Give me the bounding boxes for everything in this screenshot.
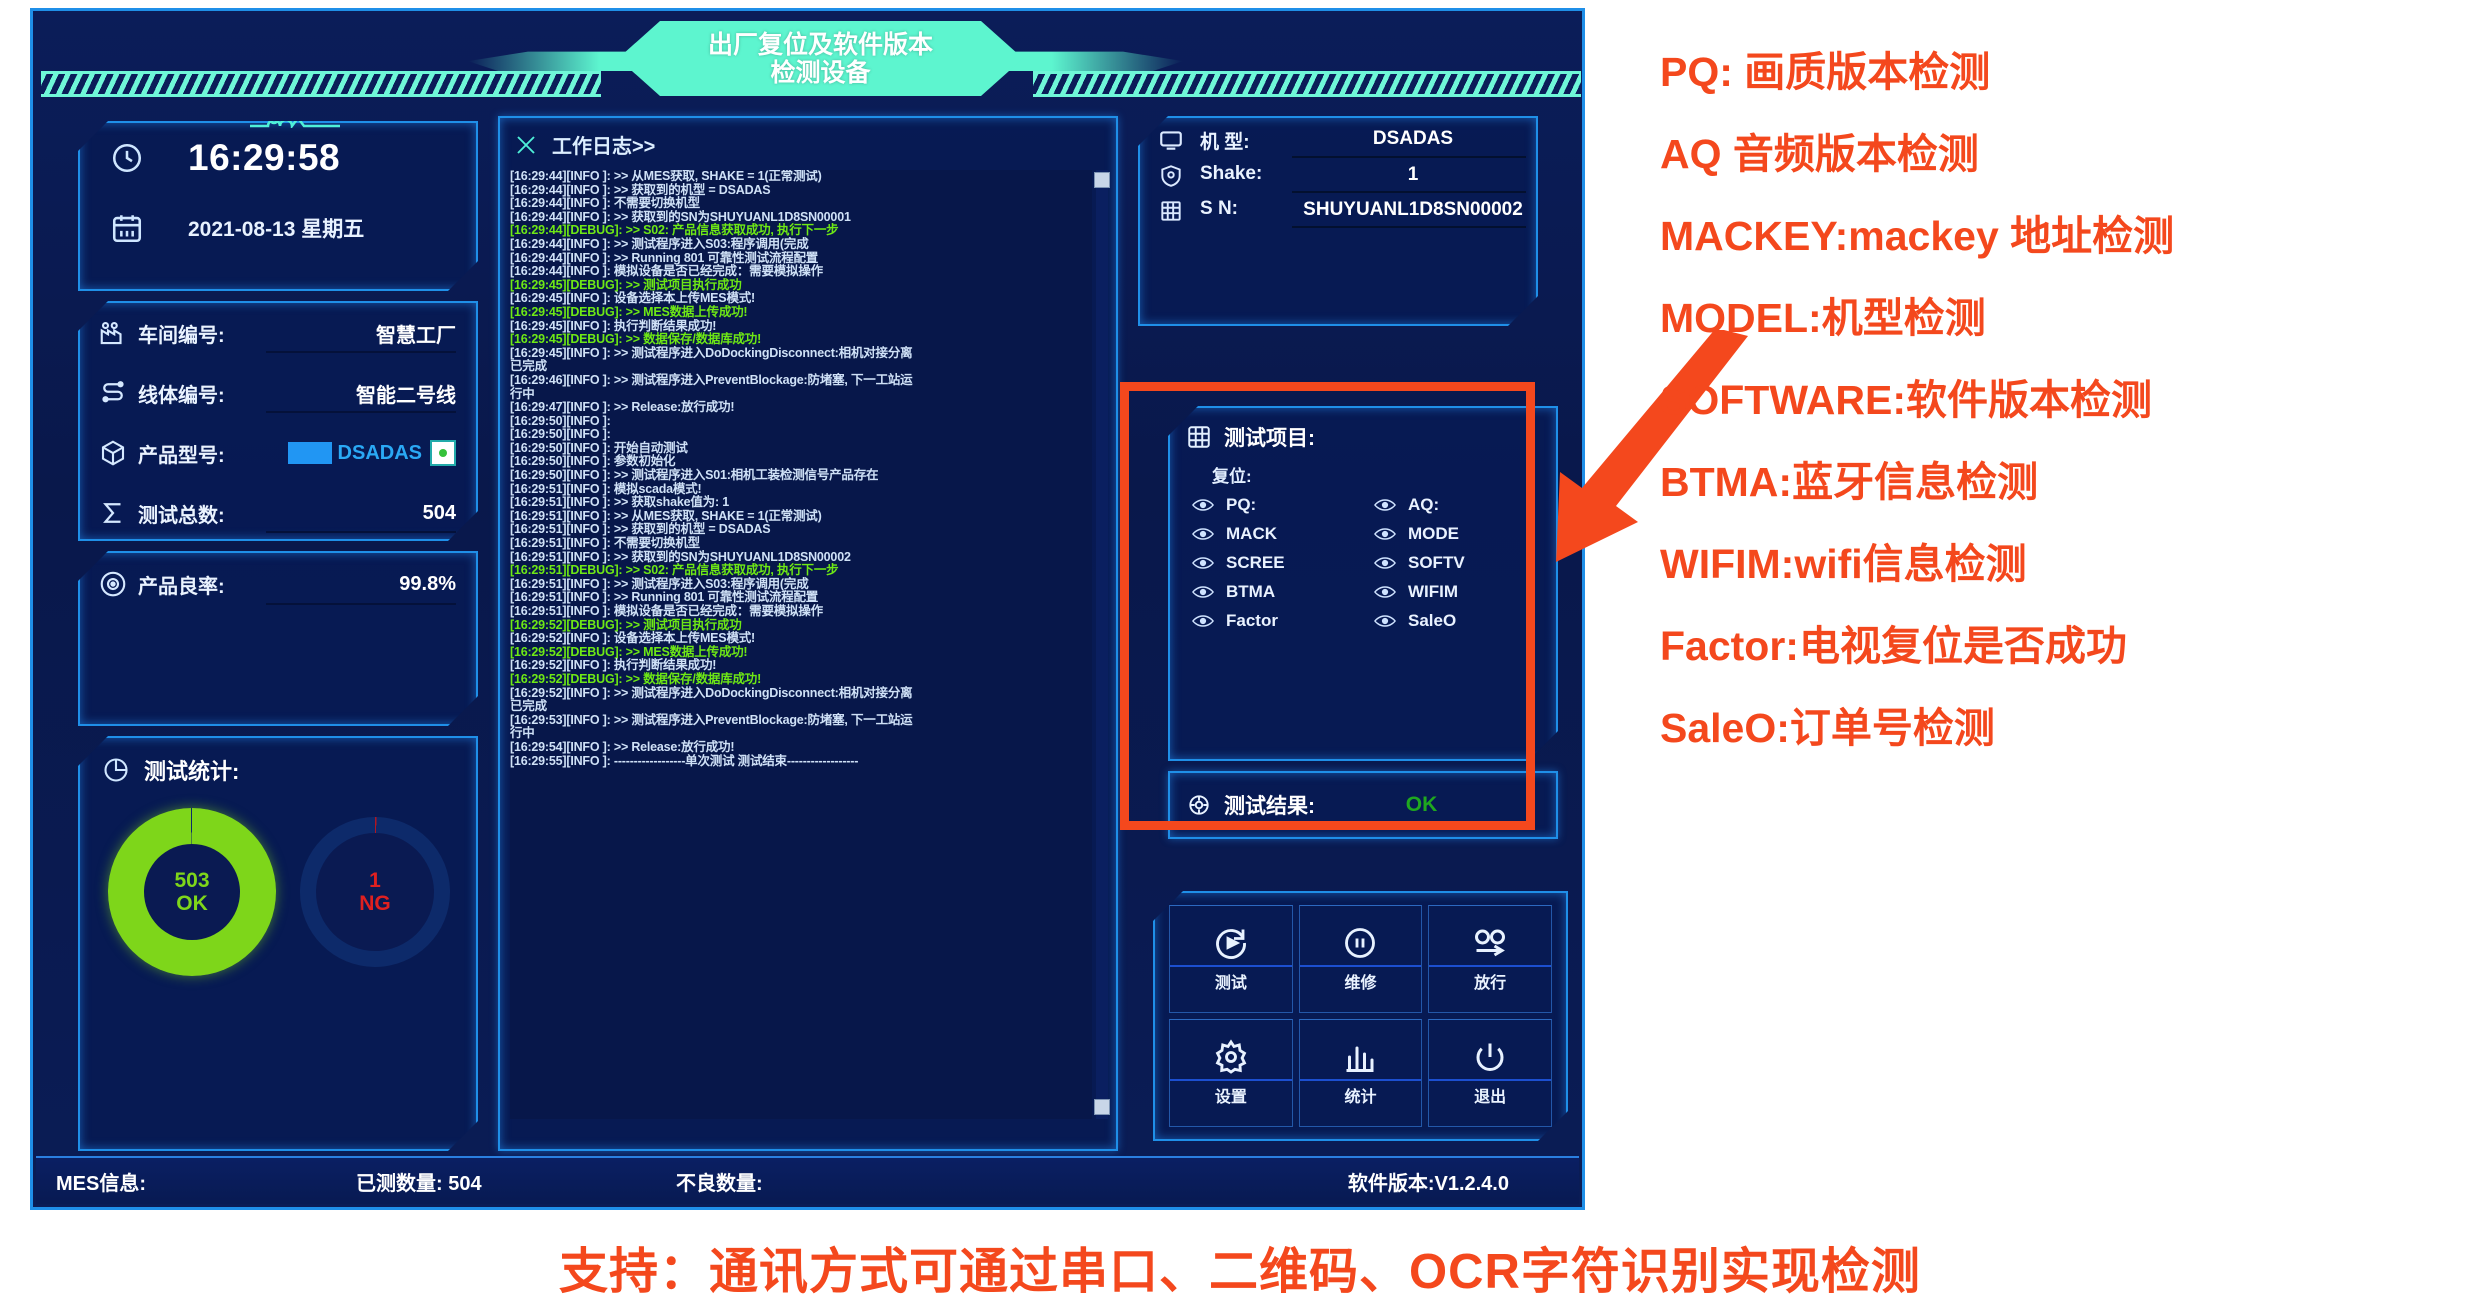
model-combobox[interactable]: DSADAS [225, 423, 460, 483]
log-line: [16:29:51][INFO ]: 不需要切换机型 [510, 537, 1092, 551]
play-circle-icon [1213, 925, 1249, 961]
clock-panel: 16:29:58 2021-08-13 星期五 [78, 121, 478, 291]
log-line: [16:29:52][INFO ]: 执行判断结果成功! [510, 659, 1092, 673]
clock-time: 16:29:58 [188, 137, 340, 179]
bottom-caption: 支持：通讯方式可通过串口、二维码、OCR字符识别实现检测 [0, 1232, 2480, 1303]
annotation-note: MACKEY:mackey 地址检测 [1660, 216, 2450, 257]
device-row-shake: Shake: 1 [1140, 154, 1536, 189]
log-line: [16:29:45][INFO ]: 设备选择本上传MES模式! [510, 292, 1092, 306]
info-row-workshop: 车间编号: 智慧工厂 [80, 303, 476, 363]
device-value-model: DSADAS [1300, 127, 1526, 151]
highlight-rectangle [1120, 382, 1535, 830]
info-value-workshop: 智慧工厂 [376, 319, 456, 348]
ng-label: NG [359, 892, 391, 915]
work-log-panel: 工作日志>> [16:29:44][INFO ]: >> 从MES获取, SHA… [498, 116, 1118, 1151]
device-info-panel: 机 型: DSADAS Shake: 1 S N: SHUY [1138, 116, 1538, 326]
donut-ok-center: 503 OK [144, 844, 240, 940]
log-line: [16:29:45][INFO ]: >> 测试程序进入DoDockingDis… [510, 347, 1092, 361]
annotation-note: SaleO:订单号检测 [1660, 708, 2450, 749]
statistics-title: 测试统计: [144, 754, 239, 786]
info-value-wrap-workshop: 智慧工厂 [225, 303, 460, 363]
info-row-yield: 产品良率: 99.8% [80, 553, 476, 615]
action-buttons-panel: 测试维修放行设置统计退出 [1153, 891, 1568, 1141]
factory-icon [98, 318, 128, 348]
device-row-sn: S N: SHUYUANL1D8SN00002 [1140, 189, 1536, 224]
release-icon [1472, 925, 1508, 961]
log-header: 工作日志>> [500, 118, 1116, 165]
test-statistics-panel: 测试统计: 503 OK 1 NG [78, 736, 478, 1151]
pause-circle-icon [1342, 925, 1378, 961]
log-line: 已完成 [510, 700, 1092, 714]
line-icon [98, 378, 128, 408]
box-icon [98, 438, 128, 468]
yield-panel: 产品良率: 99.8% [78, 551, 478, 726]
log-line: [16:29:47][INFO ]: >> Release:放行成功! [510, 401, 1092, 415]
log-line: [16:29:44][INFO ]: >> 从MES获取, SHAKE = 1(… [510, 170, 1092, 184]
annotation-note: SOFTWARE:软件版本检测 [1660, 380, 2450, 421]
annotation-list: PQ: 画质版本检测AQ 音频版本检测MACKEY:mackey 地址检测MOD… [1660, 52, 2450, 790]
info-value-yield: 99.8% [399, 573, 456, 596]
info-value-line: 智能二号线 [356, 379, 456, 408]
clock-date: 2021-08-13 星期五 [188, 213, 364, 243]
button-gear[interactable]: 设置 [1169, 1019, 1293, 1127]
donut-ng-center: 1 NG [316, 833, 434, 951]
button-label: 设置 [1170, 1079, 1292, 1107]
log-line: [16:29:52][INFO ]: >> 测试程序进入DoDockingDis… [510, 687, 1092, 701]
sigma-icon [98, 498, 128, 528]
log-scrollbar[interactable] [1096, 170, 1108, 1119]
log-line: [16:29:45][DEBUG]: >> MES数据上传成功! [510, 306, 1092, 320]
info-row-line: 线体编号: 智能二号线 [80, 363, 476, 423]
statistics-donuts: 503 OK 1 NG [80, 786, 476, 976]
annotation-note: Factor:电视复位是否成功 [1660, 626, 2450, 667]
info-value-total: 504 [423, 502, 456, 525]
status-software-version: 软件版本:V1.2.4.0 [976, 1167, 1579, 1196]
log-line: [16:29:45][DEBUG]: >> 数据保存/数据库成功! [510, 333, 1092, 347]
shield-icon [1158, 163, 1184, 189]
target-icon [98, 569, 128, 599]
app-title-line2: 检测设备 [770, 59, 870, 87]
field-underline [1292, 226, 1526, 228]
button-bar-chart[interactable]: 统计 [1299, 1019, 1423, 1127]
clock-date-row: 2021-08-13 星期五 [80, 193, 476, 263]
field-underline [266, 531, 456, 533]
gear-icon [1213, 1039, 1249, 1075]
log-line: [16:29:55][INFO ]: ------------------单次测… [510, 755, 1092, 769]
log-line: [16:29:50][INFO ]: [510, 428, 1092, 442]
tools-icon [514, 133, 538, 157]
log-line: [16:29:51][INFO ]: 模拟设备是否已经完成：需要模拟操作 [510, 605, 1092, 619]
log-scroll-up-button[interactable] [1094, 172, 1110, 188]
info-label-line: 线体编号: [138, 379, 225, 408]
device-value-shake: 1 [1300, 163, 1526, 187]
annotation-note: BTMA:蓝牙信息检测 [1660, 462, 2450, 503]
info-value-wrap-yield: 99.8% [225, 553, 460, 615]
info-row-total: 测试总数: 504 [80, 483, 476, 543]
ng-count: 1 [369, 869, 381, 892]
log-title: 工作日志>> [552, 130, 655, 159]
annotation-note: WIFIM:wifi信息检测 [1660, 544, 2450, 585]
button-label: 维修 [1300, 965, 1422, 993]
statistics-header: 测试统计: [80, 738, 476, 786]
button-power[interactable]: 退出 [1428, 1019, 1552, 1127]
log-line: [16:29:51][INFO ]: >> 获取到的机型 = DSADAS [510, 523, 1092, 537]
device-label-model: 机 型: [1200, 127, 1300, 154]
annotation-note: PQ: 画质版本检测 [1660, 52, 2450, 93]
field-underline [266, 411, 456, 413]
field-underline [266, 603, 456, 605]
button-label: 放行 [1429, 965, 1551, 993]
device-label-shake: Shake: [1200, 163, 1300, 185]
calendar-icon [110, 211, 144, 245]
log-line: [16:29:50][INFO ]: [510, 415, 1092, 429]
button-release[interactable]: 放行 [1428, 905, 1552, 1013]
product-info-panel: 车间编号: 智慧工厂 线体编号: 智能二号线 [78, 301, 478, 541]
log-line: [16:29:52][INFO ]: 设备选择本上传MES模式! [510, 632, 1092, 646]
info-value-wrap-total: 504 [225, 483, 460, 543]
log-line: [16:29:53][INFO ]: >> 测试程序进入PreventBlock… [510, 714, 1092, 728]
info-row-model[interactable]: 产品型号: DSADAS [80, 423, 476, 483]
info-value-wrap-line: 智能二号线 [225, 363, 460, 423]
log-line: 已完成 [510, 360, 1092, 374]
log-line: [16:29:44][DEBUG]: >> S02: 产品信息获取成功, 执行下… [510, 224, 1092, 238]
device-value-sn: SHUYUANL1D8SN00002 [1300, 198, 1526, 222]
log-line: 行中 [510, 727, 1092, 741]
hatch-strip-right [1033, 71, 1581, 97]
log-line: [16:29:51][DEBUG]: >> S02: 产品信息获取成功, 执行下… [510, 564, 1092, 578]
list-icon [1158, 198, 1184, 224]
button-label: 退出 [1429, 1079, 1551, 1107]
log-line: [16:29:54][INFO ]: >> Release:放行成功! [510, 741, 1092, 755]
info-label-model: 产品型号: [138, 439, 225, 468]
info-value-model: DSADAS [338, 442, 422, 465]
annotation-note: AQ 音频版本检测 [1660, 134, 2450, 175]
device-row-model: 机 型: DSADAS [1140, 118, 1536, 154]
log-line: [16:29:52][DEBUG]: >> 数据保存/数据库成功! [510, 673, 1092, 687]
ok-count: 503 [174, 869, 209, 892]
button-pause-circle[interactable]: 维修 [1299, 905, 1423, 1013]
pie-chart-icon [102, 756, 130, 784]
log-scroll-down-button[interactable] [1094, 1099, 1110, 1115]
model-dropdown-button[interactable] [430, 440, 456, 466]
status-defect-count: 不良数量: [676, 1167, 976, 1196]
clock-time-row: 16:29:58 [80, 123, 476, 193]
device-label-sn: S N: [1200, 198, 1300, 220]
bar-chart-icon [1342, 1039, 1378, 1075]
log-output[interactable]: [16:29:44][INFO ]: >> 从MES获取, SHAKE = 1(… [510, 170, 1092, 1119]
app-title-banner: 出厂复位及软件版本 检测设备 [618, 21, 1023, 96]
log-line: [16:29:44][INFO ]: 不需要切换机型 [510, 197, 1092, 211]
model-color-chip [288, 442, 332, 464]
log-line: [16:29:51][INFO ]: >> Running 801 可靠性测试流… [510, 591, 1092, 605]
status-tested-count: 已测数量: 504 [356, 1167, 676, 1196]
log-line: [16:29:44][INFO ]: 模拟设备是否已经完成：需要模拟操作 [510, 265, 1092, 279]
log-line: [16:29:44][INFO ]: >> 测试程序进入S03:程序调用(完成 [510, 238, 1092, 252]
donut-ng: 1 NG [300, 817, 450, 967]
page-root: 出厂复位及软件版本 检测设备 16:29:58 2021-08-13 [0, 0, 2480, 1311]
dropdown-dot-icon [439, 449, 447, 457]
log-line: [16:29:46][INFO ]: >> 测试程序进入PreventBlock… [510, 374, 1092, 388]
info-label-workshop: 车间编号: [138, 319, 225, 348]
hatch-strip-left [41, 71, 601, 97]
info-label-yield: 产品良率: [138, 570, 225, 599]
annotation-note: MODEL:机型检测 [1660, 298, 2450, 339]
button-label: 统计 [1300, 1079, 1422, 1107]
info-label-total: 测试总数: [138, 499, 225, 528]
monitor-icon [1158, 127, 1184, 153]
field-underline [266, 351, 456, 353]
clock-icon [110, 141, 144, 175]
action-buttons-grid: 测试维修放行设置统计退出 [1155, 893, 1566, 1139]
log-line: [16:29:51][INFO ]: >> 获取shake值为: 1 [510, 496, 1092, 510]
app-title-line1: 出厂复位及软件版本 [708, 31, 933, 59]
status-bar: MES信息: 已测数量: 504 不良数量: 软件版本:V1.2.4.0 [36, 1156, 1579, 1204]
donut-ok: 503 OK [108, 808, 276, 976]
button-label: 测试 [1170, 965, 1292, 993]
log-line: [16:29:50][INFO ]: >> 测试程序进入S01:相机工装检测信号… [510, 469, 1092, 483]
ok-label: OK [176, 892, 208, 915]
power-icon [1472, 1039, 1508, 1075]
status-mes-label: MES信息: [36, 1167, 356, 1196]
button-play-circle[interactable]: 测试 [1169, 905, 1293, 1013]
